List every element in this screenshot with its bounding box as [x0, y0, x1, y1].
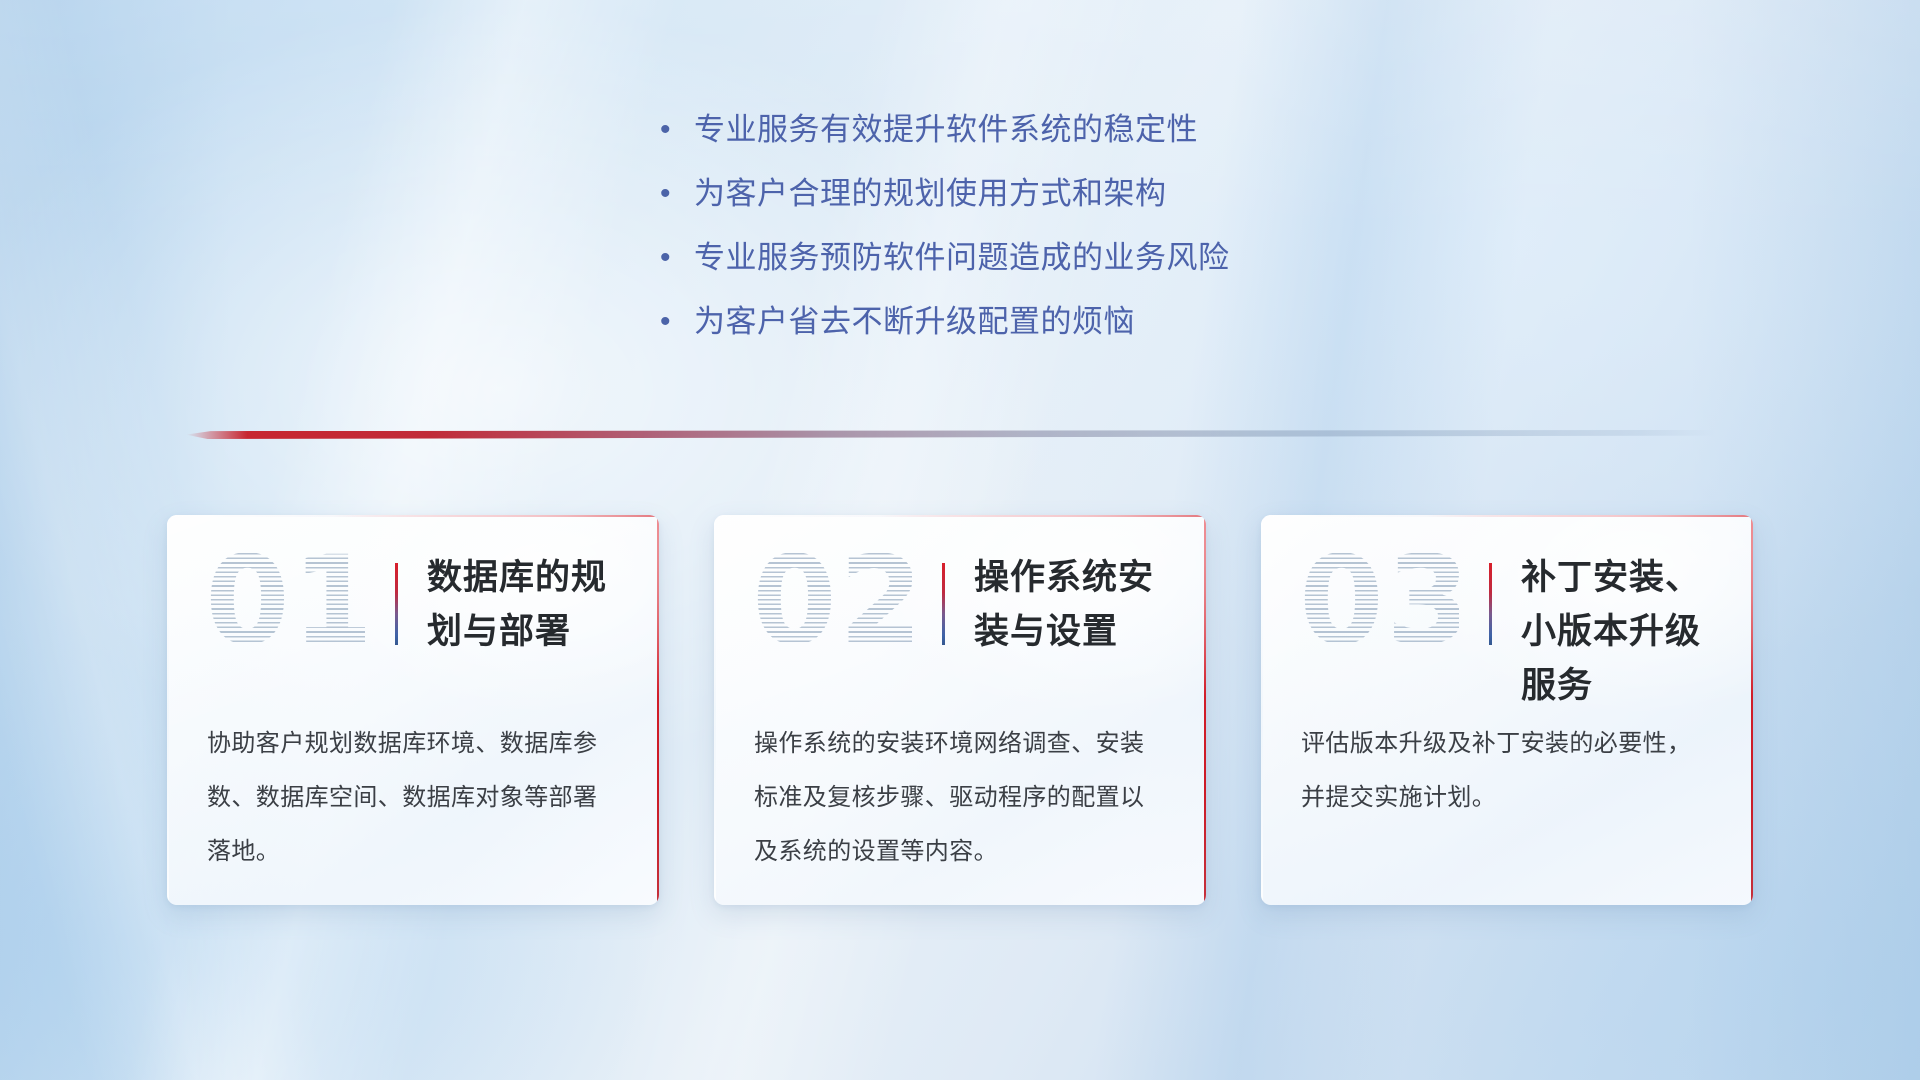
- card-description: 操作系统的安装环境网络调查、安装标准及复核步骤、驱动程序的配置以及系统的设置等内…: [754, 717, 1166, 879]
- card-title: 补丁安装、小版本升级服务: [1521, 551, 1731, 713]
- service-card-list: 01 数据库的规划与部署 协助客户规划数据库环境、数据库参数、数据库空间、数据库…: [0, 515, 1920, 905]
- bullet-item: • 专业服务预防软件问题造成的业务风险: [660, 236, 1230, 300]
- card-description: 协助客户规划数据库环境、数据库参数、数据库空间、数据库对象等部署落地。: [207, 717, 619, 879]
- bullet-item-label: 专业服务有效提升软件系统的稳定性: [694, 108, 1198, 152]
- bullet-item-label: 为客户合理的规划使用方式和架构: [694, 172, 1167, 216]
- service-card[interactable]: 02 操作系统安装与设置 操作系统的安装环境网络调查、安装标准及复核步骤、驱动程…: [714, 515, 1206, 905]
- benefits-bullet-list: • 专业服务有效提升软件系统的稳定性 • 为客户合理的规划使用方式和架构 • 专…: [660, 108, 1230, 364]
- card-description: 评估版本升级及补丁安装的必要性，并提交实施计划。: [1301, 717, 1713, 825]
- bullet-dot-icon: •: [660, 108, 694, 152]
- card-title-accent-bar: [1489, 563, 1492, 645]
- card-header: 03 补丁安装、小版本升级服务: [1261, 515, 1753, 701]
- card-number-watermark: 01: [205, 537, 365, 665]
- bullet-item-label: 专业服务预防软件问题造成的业务风险: [694, 236, 1230, 280]
- bullet-item: • 为客户合理的规划使用方式和架构: [660, 172, 1230, 236]
- card-title: 操作系统安装与设置: [974, 551, 1184, 659]
- card-number-watermark: 02: [752, 537, 912, 665]
- service-card[interactable]: 01 数据库的规划与部署 协助客户规划数据库环境、数据库参数、数据库空间、数据库…: [167, 515, 659, 905]
- service-card[interactable]: 03 补丁安装、小版本升级服务 评估版本升级及补丁安装的必要性，并提交实施计划。: [1261, 515, 1753, 905]
- card-title: 数据库的规划与部署: [427, 551, 637, 659]
- bullet-dot-icon: •: [660, 236, 694, 280]
- card-number-watermark: 03: [1299, 537, 1459, 665]
- section-divider: [186, 430, 1716, 439]
- card-title-accent-bar: [942, 563, 945, 645]
- card-title-accent-bar: [395, 563, 398, 645]
- bullet-dot-icon: •: [660, 300, 694, 344]
- bullet-dot-icon: •: [660, 172, 694, 216]
- card-header: 01 数据库的规划与部署: [167, 515, 659, 701]
- bullet-item: • 专业服务有效提升软件系统的稳定性: [660, 108, 1230, 172]
- card-header: 02 操作系统安装与设置: [714, 515, 1206, 701]
- divider-gradient-bar: [186, 430, 1716, 439]
- bullet-item: • 为客户省去不断升级配置的烦恼: [660, 300, 1230, 364]
- bullet-item-label: 为客户省去不断升级配置的烦恼: [694, 300, 1135, 344]
